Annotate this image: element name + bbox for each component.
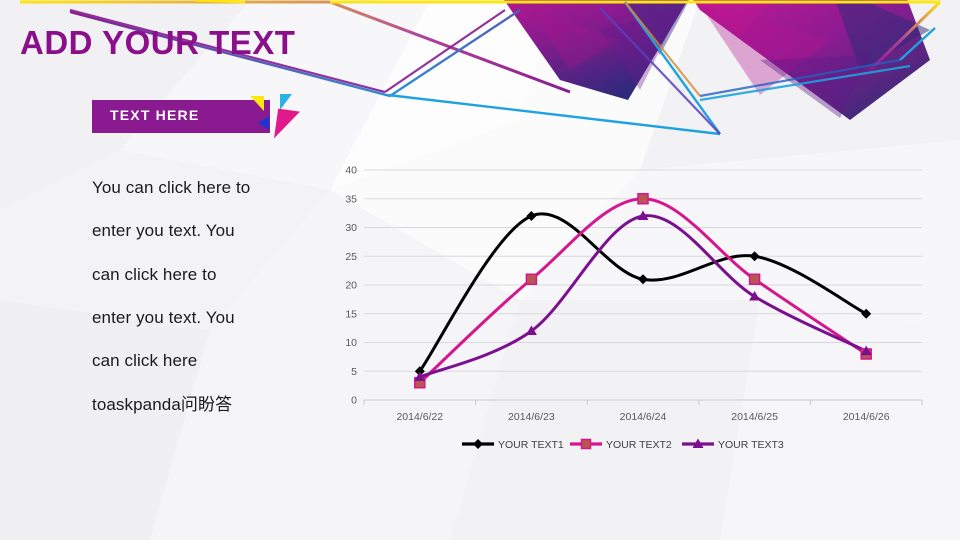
yellow-triangle-icon: [250, 96, 264, 111]
svg-text:15: 15: [345, 308, 357, 320]
svg-text:0: 0: [351, 395, 357, 407]
chart-xaxis: [364, 400, 922, 405]
svg-text:30: 30: [345, 222, 357, 234]
svg-text:2014/6/25: 2014/6/25: [731, 411, 778, 423]
blue-triangle-icon: [258, 116, 269, 130]
chart-series-markers[interactable]: [414, 194, 871, 388]
body-line: enter you text. You: [92, 209, 342, 252]
svg-text:10: 10: [345, 337, 357, 349]
text-here-badge[interactable]: TEXT HERE: [92, 98, 322, 142]
svg-text:YOUR TEXT1: YOUR TEXT1: [498, 439, 564, 451]
body-paragraph: You can click here to enter you text. Yo…: [92, 166, 342, 426]
svg-text:35: 35: [345, 193, 357, 205]
svg-text:2014/6/23: 2014/6/23: [508, 411, 555, 423]
body-line: can click here: [92, 339, 342, 382]
page-title: ADD YOUR TEXT: [20, 26, 295, 59]
svg-text:20: 20: [345, 280, 357, 292]
chart-xtick-labels: 2014/6/222014/6/232014/6/242014/6/252014…: [396, 411, 889, 423]
svg-text:5: 5: [351, 366, 357, 378]
chart-series-lines[interactable]: [420, 199, 866, 383]
cyan-triangle-icon: [280, 94, 292, 110]
body-line: toaskpanda问盼答: [92, 383, 342, 426]
svg-text:2014/6/24: 2014/6/24: [620, 411, 667, 423]
body-line: enter you text. You: [92, 296, 342, 339]
svg-text:40: 40: [345, 165, 357, 177]
badge-label: TEXT HERE: [110, 107, 199, 123]
svg-text:2014/6/22: 2014/6/22: [396, 411, 443, 423]
line-chart[interactable]: 0510152025303540 2014/6/222014/6/232014/…: [334, 152, 934, 462]
svg-text:25: 25: [345, 251, 357, 263]
body-line: can click here to: [92, 253, 342, 296]
chart-legend[interactable]: YOUR TEXT1YOUR TEXT2YOUR TEXT3: [462, 439, 784, 451]
svg-text:2014/6/26: 2014/6/26: [843, 411, 890, 423]
svg-text:YOUR TEXT3: YOUR TEXT3: [718, 439, 784, 451]
body-line: You can click here to: [92, 166, 342, 209]
svg-text:YOUR TEXT2: YOUR TEXT2: [606, 439, 672, 451]
chart-ytick-labels: 0510152025303540: [345, 165, 357, 407]
magenta-triangle-icon: [274, 109, 300, 142]
